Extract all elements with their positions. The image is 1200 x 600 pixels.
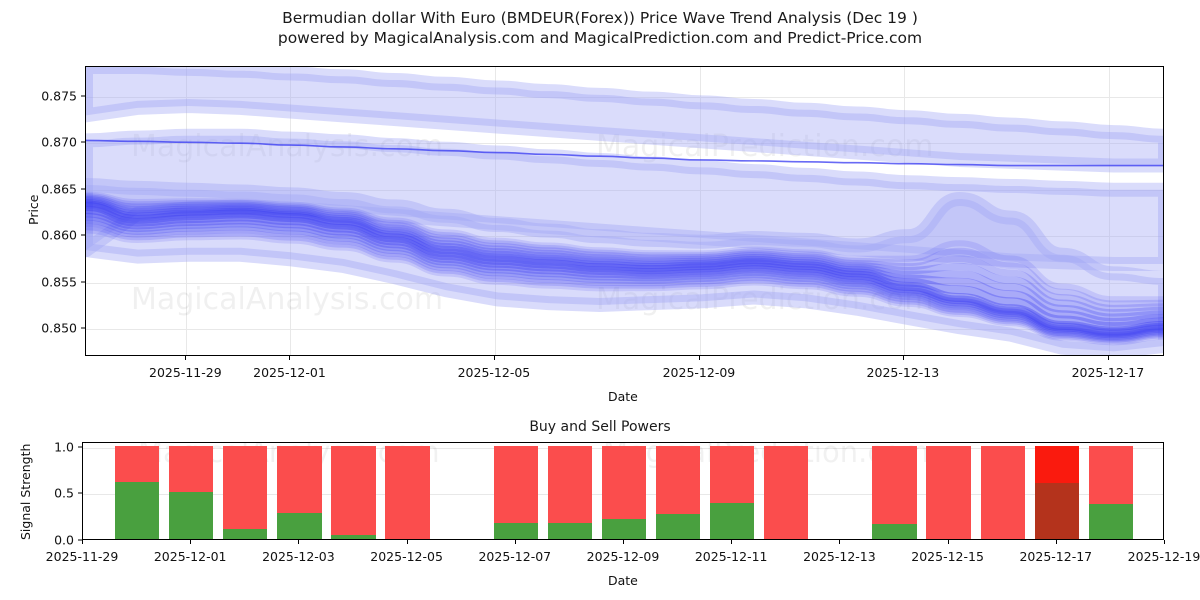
signal-strength-bar[interactable]	[548, 442, 592, 539]
buy-sell-x-tick-mark	[82, 540, 83, 544]
buy-sell-x-tick-mark	[190, 540, 191, 544]
bar-segment-sell	[872, 446, 916, 524]
signal-strength-bar[interactable]	[710, 442, 754, 539]
price-wave-x-tick-label: 2025-12-13	[867, 365, 940, 380]
signal-strength-bar[interactable]	[223, 442, 267, 539]
bar-segment-sell	[115, 446, 159, 482]
bar-segment-sell	[656, 446, 700, 514]
bar-segment-buy	[1089, 504, 1133, 539]
bar-segment-buy	[710, 503, 754, 539]
buy-sell-y-tick-mark	[78, 446, 82, 447]
price-wave-y-tick-label: 0.860	[41, 228, 77, 243]
buy-sell-x-tick-label: 2025-12-03	[262, 549, 335, 564]
signal-strength-bar[interactable]	[981, 442, 1025, 539]
bar-segment-sell	[548, 446, 592, 523]
price-wave-x-axis-label: Date	[608, 389, 638, 404]
price-wave-plot-area[interactable]: MagicalAnalysis.comMagicalPrediction.com…	[85, 66, 1164, 356]
buy-sell-x-tick-mark	[1056, 540, 1057, 544]
price-wave-y-tick-mark	[81, 281, 85, 282]
bar-segment-sell	[764, 446, 808, 539]
bar-segment-buy	[656, 514, 700, 539]
price-wave-x-tick-label: 2025-12-09	[663, 365, 736, 380]
buy-sell-x-tick-mark	[407, 540, 408, 544]
bar-segment-sell	[926, 446, 970, 539]
buy-sell-y-tick-mark	[78, 493, 82, 494]
buy-sell-y-tick-label: 0.5	[54, 486, 74, 501]
price-wave-x-tick-mark	[1108, 356, 1109, 360]
price-wave-y-tick-label: 0.850	[41, 321, 77, 336]
buy-sell-x-tick-label: 2025-12-15	[911, 549, 984, 564]
buy-sell-powers-plot-area[interactable]: MagicalAnalysis.comMagicalPrediction.com	[82, 442, 1164, 540]
price-wave-y-axis-label: Price	[26, 195, 41, 226]
signal-strength-bar[interactable]	[331, 442, 375, 539]
bar-segment-buy	[872, 524, 916, 539]
bar-segment-sell	[385, 446, 429, 539]
buy-sell-x-tick-label: 2025-12-17	[1019, 549, 1092, 564]
signal-strength-bar[interactable]	[926, 442, 970, 539]
bar-segment-buy	[331, 535, 375, 539]
buy-sell-x-tick-label: 2025-12-01	[154, 549, 227, 564]
bar-segment-sell	[169, 446, 213, 493]
buy-sell-x-tick-mark	[948, 540, 949, 544]
bar-segment-sell	[277, 446, 321, 513]
price-wave-series	[86, 67, 1164, 356]
buy-sell-x-axis-label: Date	[608, 573, 638, 588]
price-wave-y-tick-label: 0.865	[41, 181, 77, 196]
buy-sell-y-axis-label: Signal Strength	[18, 444, 33, 540]
chart-title-line-1: Bermudian dollar With Euro (BMDEUR(Forex…	[0, 8, 1200, 28]
buy-sell-x-tick-label: 2025-12-19	[1128, 549, 1200, 564]
buy-sell-x-tick-label: 2025-11-29	[46, 549, 119, 564]
bar-segment-buy	[494, 523, 538, 539]
buy-sell-x-tick-mark	[515, 540, 516, 544]
bar-segment-sell	[331, 446, 375, 536]
buy-sell-x-tick-mark	[1164, 540, 1165, 544]
buy-sell-x-tick-label: 2025-12-11	[695, 549, 768, 564]
bar-segment-sell	[1089, 446, 1133, 504]
signal-strength-bar[interactable]	[494, 442, 538, 539]
buy-sell-x-tick-label: 2025-12-05	[370, 549, 443, 564]
bar-segment-buy	[548, 523, 592, 539]
price-wave-y-tick-mark	[81, 142, 85, 143]
signal-strength-bar[interactable]	[277, 442, 321, 539]
signal-strength-bar[interactable]	[115, 442, 159, 539]
bar-segment-buy	[277, 513, 321, 539]
bar-segment-buy	[602, 519, 646, 539]
price-wave-x-tick-label: 2025-12-01	[253, 365, 326, 380]
buy-sell-x-tick-mark	[623, 540, 624, 544]
buy-sell-x-tick-label: 2025-12-07	[478, 549, 551, 564]
signal-strength-bar[interactable]	[602, 442, 646, 539]
price-wave-x-tick-label: 2025-12-05	[458, 365, 531, 380]
bar-segment-buy-highlight	[1035, 483, 1079, 539]
price-wave-y-tick-mark	[81, 95, 85, 96]
price-wave-x-tick-label: 2025-12-17	[1072, 365, 1145, 380]
bar-segment-sell-highlight	[1035, 446, 1079, 483]
figure-canvas: Bermudian dollar With Euro (BMDEUR(Forex…	[0, 0, 1200, 600]
buy-sell-x-tick-mark	[839, 540, 840, 544]
signal-strength-bar[interactable]	[385, 442, 429, 539]
price-wave-y-tick-label: 0.870	[41, 135, 77, 150]
buy-sell-x-tick-label: 2025-12-09	[587, 549, 660, 564]
price-wave-y-tick-label: 0.875	[41, 88, 77, 103]
bar-segment-sell	[710, 446, 754, 503]
bar-segment-sell	[602, 446, 646, 520]
signal-strength-bar[interactable]	[1035, 442, 1079, 539]
chart-title: Bermudian dollar With Euro (BMDEUR(Forex…	[0, 8, 1200, 48]
price-wave-x-tick-mark	[289, 356, 290, 360]
bar-segment-buy	[169, 492, 213, 539]
price-wave-x-tick-label: 2025-11-29	[149, 365, 222, 380]
bar-segment-buy	[115, 482, 159, 539]
bar-segment-sell	[494, 446, 538, 523]
signal-strength-bar[interactable]	[1089, 442, 1133, 539]
signal-strength-bar[interactable]	[169, 442, 213, 539]
signal-strength-bar[interactable]	[656, 442, 700, 539]
buy-sell-x-tick-mark	[298, 540, 299, 544]
buy-sell-x-tick-label: 2025-12-13	[803, 549, 876, 564]
buy-sell-powers-title: Buy and Sell Powers	[0, 419, 1200, 435]
chart-title-line-2: powered by MagicalAnalysis.com and Magic…	[0, 28, 1200, 48]
price-wave-y-tick-label: 0.855	[41, 274, 77, 289]
signal-strength-bar[interactable]	[764, 442, 808, 539]
buy-sell-y-tick-label: 0.0	[54, 533, 74, 548]
signal-strength-bar[interactable]	[872, 442, 916, 539]
bar-segment-buy	[223, 529, 267, 539]
price-wave-x-tick-mark	[699, 356, 700, 360]
price-wave-x-tick-mark	[494, 356, 495, 360]
price-wave-x-tick-mark	[903, 356, 904, 360]
buy-sell-x-tick-mark	[731, 540, 732, 544]
price-wave-x-tick-mark	[185, 356, 186, 360]
buy-sell-y-tick-label: 1.0	[54, 439, 74, 454]
price-wave-y-tick-mark	[81, 188, 85, 189]
price-wave-y-tick-mark	[81, 328, 85, 329]
bar-segment-sell	[223, 446, 267, 529]
price-wave-y-tick-mark	[81, 235, 85, 236]
bar-segment-sell	[981, 446, 1025, 539]
